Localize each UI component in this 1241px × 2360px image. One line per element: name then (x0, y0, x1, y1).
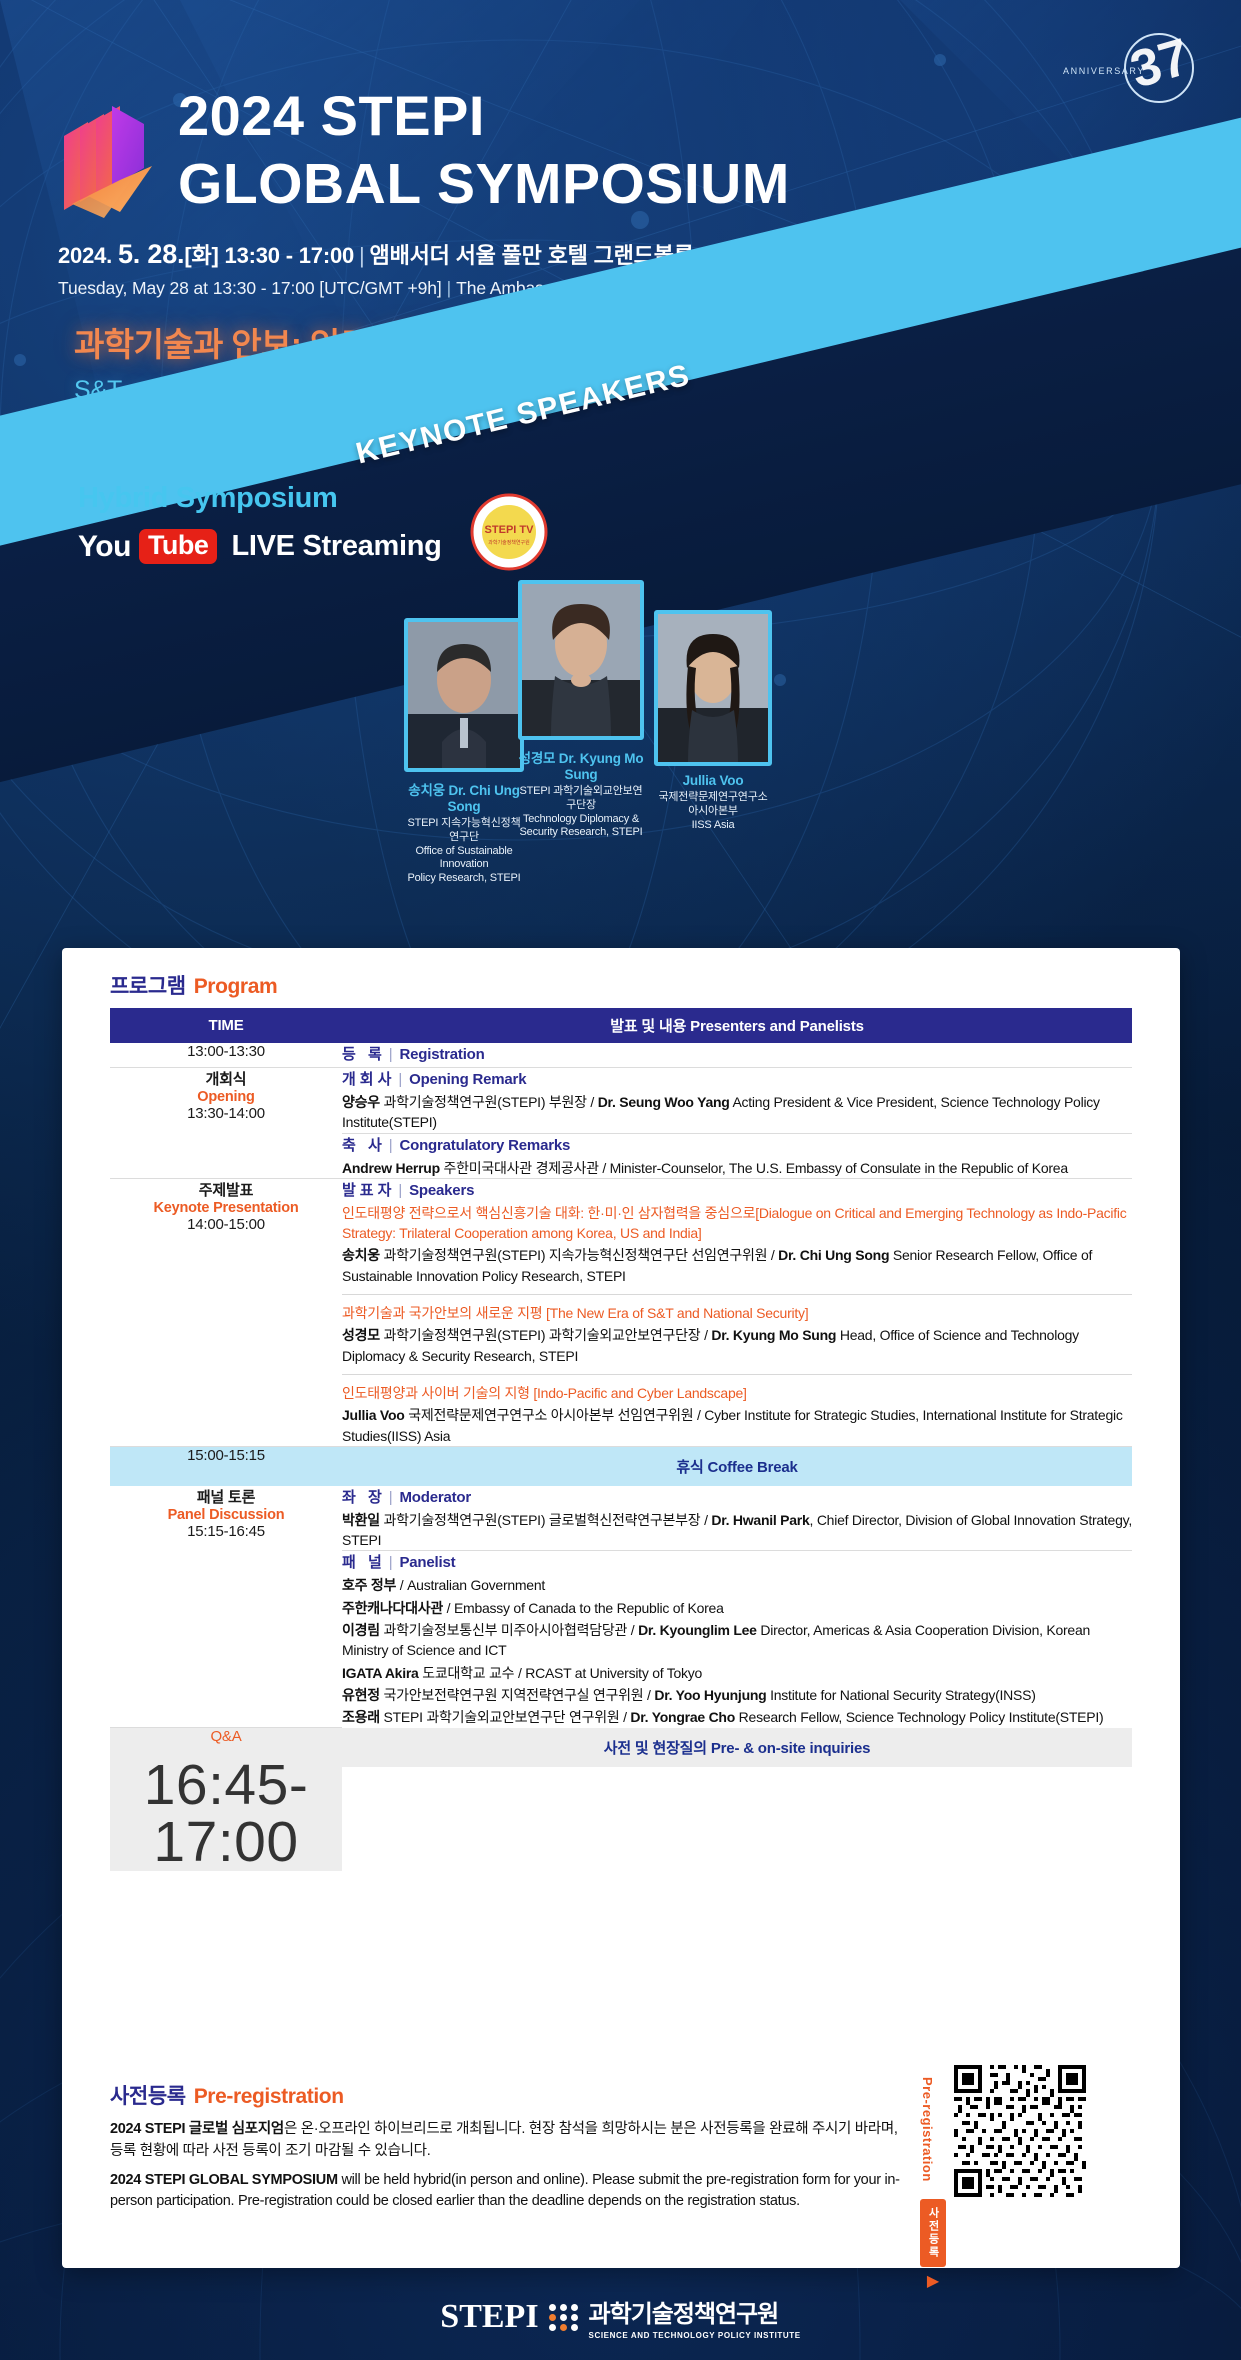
label-panelist: 패 널|Panelist (342, 1551, 1132, 1572)
entry-moderator: 박환일 과학기술정책연구원(STEPI) 글로벌혁신전략연구본부장 / Dr. … (342, 1510, 1132, 1551)
entry-name-ko: 양승우 (342, 1094, 380, 1110)
label-moderator: 좌 장|Moderator (342, 1486, 1132, 1507)
entry-name: Andrew Herrup (342, 1160, 440, 1176)
label-speakers: 발표자|Speakers (342, 1179, 1132, 1200)
qr-vertical-label-en: Pre-registration (920, 2065, 935, 2193)
entry-rest: 도쿄대학교 교수 / RCAST at University of Tokyo (419, 1665, 703, 1681)
date-ko-day: 28. (147, 239, 184, 269)
speaker-name-2: 성경모 Dr. Kyung Mo Sung (518, 747, 644, 782)
entry-name-ko: 유현정 (342, 1687, 380, 1703)
entry-congratulatory: Andrew Herrup 주한미국대사관 경제공사관 / Minister-C… (342, 1158, 1132, 1178)
entry-panelist-3: 이경림 과학기술정보통신부 미주아시아협력담당관 / Dr. Kyounglim… (342, 1620, 1132, 1661)
row-content-qa: 사전 및 현장질의 Pre- & on-site inquiries (342, 1728, 1132, 1872)
speaker-name-1: 송치웅 Dr. Chi Ung Song (404, 779, 524, 814)
program-heading-en: Program (194, 975, 278, 998)
coffee-break-label: 휴식 Coffee Break (342, 1447, 1132, 1486)
table-row: 개회식 Opening 13:30-14:00 개회사|Opening Rema… (110, 1068, 1132, 1134)
poster-root: 37 ANNIVERSARY 2024 STEPI GLOBAL SYMPOSI… (0, 0, 1241, 2360)
preregistration-text-ko: 2024 STEPI 글로벌 심포지엄은 온·오프라인 하이브리드로 개최됩니다… (110, 2119, 900, 2163)
speaker-photo-1 (404, 618, 524, 772)
label-panelist-en: Panelist (399, 1554, 455, 1571)
label-opening-remark: 개회사|Opening Remark (342, 1068, 1132, 1089)
row-time-panel: 패널 토론 Panel Discussion 15:15-16:45 (110, 1486, 342, 1728)
entry-rest2: Institute for National Security Strategy… (766, 1687, 1035, 1703)
entry-rest: 국가안보전략연구원 지역전략연구실 연구위원 / (380, 1687, 654, 1703)
svg-text:과학기술정책연구원: 과학기술정책연구원 (488, 539, 530, 546)
label-divider: | (398, 1182, 402, 1199)
entry-name-en: Dr. Kyung Mo Sung (711, 1327, 836, 1343)
row-time-opening-en: Opening (110, 1089, 342, 1105)
entry-panelist-1: 호주 정부 / Australian Government (342, 1575, 1132, 1595)
youtube-live-row: You Tube LIVE Streaming (78, 529, 442, 564)
speaker-caption-2: 성경모 Dr. Kyung Mo Sung STEPI 과학기술외교안보연구단장… (518, 747, 644, 840)
label-opening-remark-ko: 개회사 (342, 1071, 395, 1088)
row-time-opening: 개회식 Opening 13:30-14:00 (110, 1068, 342, 1179)
row-time-keynote: 주제발표 Keynote Presentation 14:00-15:00 (110, 1178, 342, 1446)
label-divider: | (389, 1554, 393, 1571)
entry-name-ko: 이경림 (342, 1622, 380, 1638)
entry-rest: 과학기술정책연구원(STEPI) 과학기술외교안보연구단장 / (380, 1327, 711, 1343)
row-time-registration: 13:00-13:30 (110, 1043, 342, 1068)
speaker-affil-2-line2: Technology Diplomacy & (518, 813, 644, 827)
entry-rest: 과학기술정책연구원(STEPI) 글로벌혁신전략연구본부장 / (380, 1512, 711, 1528)
program-col-content: 발표 및 내용 Presenters and Panelists (342, 1008, 1132, 1043)
speaker-affiliation-1: STEPI 지속가능혁신정책연구단 Office of Sustainable … (404, 817, 524, 886)
table-row-coffee-break: 15:00-15:15 휴식 Coffee Break (110, 1446, 1132, 1486)
row-time-panel-range: 15:15-16:45 (187, 1523, 265, 1540)
speaker-photo-3 (654, 610, 772, 766)
logo-dot (549, 2324, 556, 2331)
preregistration-ko-bold: 2024 STEPI 글로벌 심포지엄 (110, 2121, 284, 2137)
preregistration-en-bold: 2024 STEPI GLOBAL SYMPOSIUM (110, 2172, 338, 2188)
logo-dot-orange (560, 2324, 567, 2331)
row-time-opening-ko: 개회식 (110, 1068, 342, 1089)
speaker-card-1: 송치웅 Dr. Chi Ung Song STEPI 지속가능혁신정책연구단 O… (404, 618, 524, 886)
speaker-caption-3: Jullia Voo 국제전략문제연구연구소 아시아본부 IISS Asia (654, 773, 772, 832)
logo-dot (571, 2304, 578, 2311)
label-moderator-ko: 좌 장 (342, 1489, 386, 1506)
date-en-text: Tuesday, May 28 at 13:30 - 17:00 [UTC/GM… (58, 278, 442, 298)
hybrid-symposium-label: Hybrid Symposium (78, 482, 442, 515)
stepi-logo-korean: 과학기술정책연구원 (589, 2294, 801, 2329)
stepi-cube-logo-icon (58, 92, 168, 222)
table-row: 패널 토론 Panel Discussion 15:15-16:45 좌 장|M… (110, 1486, 1132, 1551)
label-divider: | (389, 1137, 393, 1154)
row-time-panel-en: Panel Discussion (110, 1507, 342, 1523)
stepi-logo-dots-icon (549, 2304, 579, 2331)
speaker-photo-2 (518, 580, 644, 740)
speaker-affil-1-line3: Policy Research, STEPI (404, 872, 524, 886)
label-divider: | (398, 1071, 402, 1088)
date-ko-month: 5. (118, 239, 147, 269)
entry-name-en: Dr. Hwanil Park (711, 1512, 809, 1528)
entry-name: 호주 정부 (342, 1577, 396, 1593)
speaker-portrait-1-image (408, 622, 520, 768)
entry-name-en: Dr. Chi Ung Song (778, 1247, 889, 1263)
label-congratulatory-en: Congratulatory Remarks (399, 1137, 570, 1154)
row-content-speakers: 발표자|Speakers 인도태평양 전략으로서 핵심신흥기술 대화: 한·미·… (342, 1178, 1132, 1446)
entry-panelist-4: IGATA Akira 도쿄대학교 교수 / RCAST at Universi… (342, 1663, 1132, 1683)
row-time-qa-range: 16:45-17:00 (110, 1757, 342, 1871)
entry-rest: / Embassy of Canada to the Republic of K… (443, 1600, 724, 1616)
speaker-affil-1-line2: Office of Sustainable Innovation (404, 845, 524, 873)
row-time-panel-ko: 패널 토론 (110, 1486, 342, 1507)
table-row: 13:00-13:30 등 록|Registration (110, 1043, 1132, 1068)
preregistration-heading-ko: 사전등록 (110, 2085, 186, 2108)
preregistration-text-en: 2024 STEPI GLOBAL SYMPOSIUM will be held… (110, 2170, 900, 2214)
label-opening-remark-en: Opening Remark (409, 1071, 526, 1088)
table-row: 주제발표 Keynote Presentation 14:00-15:00 발표… (110, 1178, 1132, 1446)
logo-dot (571, 2314, 578, 2321)
entry-rest: 주한미국대사관 경제공사관 / Minister-Counselor, The … (440, 1160, 1068, 1176)
entry-rest: 과학기술정책연구원(STEPI) 지속가능혁신정책연구단 선임연구위원 / (380, 1247, 778, 1263)
label-divider: | (389, 1489, 393, 1506)
poster-footer: STEPI 과학기술정책연구원 SCIENCE AND TECHNOLOGY P… (0, 2274, 1241, 2360)
speaker-portrait-2-image (522, 584, 640, 736)
program-col-time: TIME (110, 1008, 342, 1043)
speaker-portrait-3-image (658, 614, 768, 762)
speaker-card-3: Jullia Voo 국제전략문제연구연구소 아시아본부 IISS Asia (654, 610, 772, 832)
live-streaming-label: LIVE Streaming (231, 530, 441, 563)
label-congratulatory: 축 사|Congratulatory Remarks (342, 1134, 1132, 1155)
topic-title-2: 과학기술과 국가안보의 새로운 지평 [The New Era of S&T a… (342, 1303, 1132, 1323)
table-row-qa: Q&A 16:45-17:00 사전 및 현장질의 Pre- & on-site… (110, 1728, 1132, 1872)
row-time-qa-label: Q&A (210, 1728, 241, 1745)
label-congratulatory-ko: 축 사 (342, 1137, 386, 1154)
label-moderator-en: Moderator (399, 1489, 471, 1506)
label-registration-en: Registration (399, 1046, 484, 1063)
entry-rest: 과학기술정보통신부 미주아시아협력담당관 / (380, 1622, 638, 1638)
label-speakers-en: Speakers (409, 1182, 474, 1199)
qr-code-image[interactable] (954, 2065, 1086, 2197)
entry-panelist-6: 조용래 STEPI 과학기술외교안보연구단 연구위원 / Dr. Yongrae… (342, 1707, 1132, 1727)
label-registration-ko: 등 록 (342, 1046, 386, 1063)
entry-panelist-5: 유현정 국가안보전략연구원 지역전략연구실 연구위원 / Dr. Yoo Hyu… (342, 1685, 1132, 1705)
speaker-name-3: Jullia Voo (654, 773, 772, 788)
entry-name-en: Dr. Yoo Hyunjung (654, 1687, 766, 1703)
qa-label: 사전 및 현장질의 Pre- & on-site inquiries (342, 1728, 1132, 1767)
topic-title-1: 인도태평양 전략으로서 핵심신흥기술 대화: 한·미·인 삼자협력을 중심으로[… (342, 1203, 1132, 1244)
svg-text:ANNIVERSARY: ANNIVERSARY (1063, 66, 1145, 76)
entry-name-ko: 송치웅 (342, 1247, 380, 1263)
label-divider: | (389, 1046, 393, 1063)
sub-divider (342, 1374, 1132, 1375)
date-separator: | (354, 243, 370, 268)
row-time-keynote-en: Keynote Presentation (110, 1200, 342, 1216)
program-table: TIME 발표 및 내용 Presenters and Panelists 13… (110, 1008, 1132, 1871)
row-time-qa: Q&A 16:45-17:00 (110, 1728, 342, 1872)
entry-rest: 국제전략문제연구연구소 아시아본부 선임연구위원 / Cyber Institu… (342, 1407, 1123, 1443)
label-panelist-ko: 패 널 (342, 1554, 386, 1571)
stepi-tv-badge-icon: STEPI TV 과학기술정책연구원 (470, 493, 548, 571)
row-time-coffee-break: 15:00-15:15 (110, 1446, 342, 1486)
speaker-affil-3-line1: 국제전략문제연구연구소 아시아본부 (654, 791, 772, 819)
entry-rest2: Research Fellow, Science Technology Poli… (735, 1709, 1103, 1725)
entry-name-en: Dr. Seung Woo Yang (598, 1094, 730, 1110)
topic-speaker-3: Jullia Voo 국제전략문제연구연구소 아시아본부 선임연구위원 / Cy… (342, 1405, 1132, 1446)
preregistration-heading-en: Pre-registration (194, 2085, 344, 2108)
preregistration-block: 사전등록Pre-registration 2024 STEPI 글로벌 심포지엄… (110, 2080, 900, 2220)
program-heading-ko: 프로그램 (110, 975, 186, 998)
speaker-affil-2-line3: Security Research, STEPI (518, 826, 644, 840)
qr-side-labels: Pre-registration 사전등록 ▶ (920, 2065, 946, 2291)
row-content-coffee-break: 휴식 Coffee Break (342, 1446, 1132, 1486)
entry-name: IGATA Akira (342, 1665, 419, 1681)
entry-name-en: Dr. Yongrae Cho (630, 1709, 735, 1725)
program-table-header-row: TIME 발표 및 내용 Presenters and Panelists (110, 1008, 1132, 1043)
stepi-logo-text-group: 과학기술정책연구원 SCIENCE AND TECHNOLOGY POLICY … (589, 2294, 801, 2340)
entry-rest: STEPI 과학기술외교안보연구단 연구위원 / (380, 1709, 631, 1725)
row-content-registration: 등 록|Registration (342, 1043, 1132, 1068)
label-speakers-ko: 발표자 (342, 1182, 395, 1199)
sub-divider (342, 1294, 1132, 1295)
row-content-congratulatory: 축 사|Congratulatory Remarks Andrew Herrup… (342, 1133, 1132, 1178)
speaker-caption-1: 송치웅 Dr. Chi Ung Song STEPI 지속가능혁신정책연구단 O… (404, 779, 524, 886)
topic-title-3: 인도태평양과 사이버 기술의 지형 [Indo-Pacific and Cybe… (342, 1383, 1132, 1403)
logo-dot (560, 2314, 567, 2321)
streaming-block: Hybrid Symposium You Tube LIVE Streaming (78, 482, 442, 564)
logo-dot (549, 2304, 556, 2311)
title-line-1: 2024 STEPI (178, 88, 1038, 144)
topic-speaker-2: 성경모 과학기술정책연구원(STEPI) 과학기술외교안보연구단장 / Dr. … (342, 1325, 1132, 1366)
date-ko-year: 2024. (58, 243, 118, 268)
speaker-affiliation-2: STEPI 과학기술외교안보연구단장 Technology Diplomacy … (518, 785, 644, 840)
row-time-opening-range: 13:30-14:00 (187, 1105, 265, 1122)
youtube-tube-badge: Tube (139, 529, 218, 564)
stepi-footer-logo: STEPI 과학기술정책연구원 SCIENCE AND TECHNOLOGY P… (440, 2294, 800, 2340)
qr-code-block[interactable]: Pre-registration 사전등록 ▶ (920, 2065, 1086, 2291)
entry-panelist-2: 주한캐나다대사관 / Embassy of Canada to the Repu… (342, 1598, 1132, 1618)
entry-rest: 과학기술정책연구원(STEPI) 부원장 / (380, 1094, 598, 1110)
date-separator-en: | (442, 278, 456, 298)
preregistration-heading: 사전등록Pre-registration (110, 2080, 900, 2110)
row-time-keynote-ko: 주제발표 (110, 1179, 342, 1200)
row-content-moderator: 좌 장|Moderator 박환일 과학기술정책연구원(STEPI) 글로벌혁신… (342, 1486, 1132, 1551)
program-heading: 프로그램Program (110, 970, 1180, 1000)
logo-dot (560, 2304, 567, 2311)
label-registration: 등 록|Registration (342, 1043, 1132, 1064)
logo-dot (571, 2324, 578, 2331)
svg-text:STEPI TV: STEPI TV (485, 524, 535, 536)
date-ko-rest: [화] 13:30 - 17:00 (184, 243, 354, 268)
entry-name: 주한캐나다대사관 (342, 1600, 443, 1616)
speaker-affil-3-line2: IISS Asia (654, 819, 772, 833)
entry-name-ko: 성경모 (342, 1327, 380, 1343)
qr-badge-ko: 사전등록 (920, 2199, 946, 2267)
entry-opening-remark: 양승우 과학기술정책연구원(STEPI) 부원장 / Dr. Seung Woo… (342, 1092, 1132, 1133)
speaker-affiliation-3: 국제전략문제연구연구소 아시아본부 IISS Asia (654, 791, 772, 832)
entry-name-ko: 조용래 (342, 1709, 380, 1725)
entry-name-en: Dr. Kyounglim Lee (638, 1622, 757, 1638)
anniversary-mark-icon: 37 ANNIVERSARY (1057, 26, 1207, 118)
speaker-affil-1-line1: STEPI 지속가능혁신정책연구단 (404, 817, 524, 845)
logo-dot-orange (549, 2314, 556, 2321)
row-content-opening-remark: 개회사|Opening Remark 양승우 과학기술정책연구원(STEPI) … (342, 1068, 1132, 1134)
stepi-logo-wordmark: STEPI (440, 2298, 538, 2336)
entry-name-ko: 박환일 (342, 1512, 380, 1528)
speaker-card-2: 성경모 Dr. Kyung Mo Sung STEPI 과학기술외교안보연구단장… (518, 580, 644, 840)
row-time-keynote-range: 14:00-15:00 (187, 1216, 265, 1233)
stepi-logo-english: SCIENCE AND TECHNOLOGY POLICY INSTITUTE (589, 2331, 801, 2340)
poster-title: 2024 STEPI GLOBAL SYMPOSIUM (178, 88, 1038, 213)
entry-rest: / Australian Government (396, 1577, 545, 1593)
row-content-panelist: 패 널|Panelist 호주 정부 / Australian Governme… (342, 1551, 1132, 1728)
youtube-you-text: You (78, 530, 131, 564)
topic-speaker-1: 송치웅 과학기술정책연구원(STEPI) 지속가능혁신정책연구단 선임연구위원 … (342, 1245, 1132, 1286)
speaker-affil-2-line1: STEPI 과학기술외교안보연구단장 (518, 785, 644, 813)
entry-name-ko: Jullia Voo (342, 1407, 405, 1423)
